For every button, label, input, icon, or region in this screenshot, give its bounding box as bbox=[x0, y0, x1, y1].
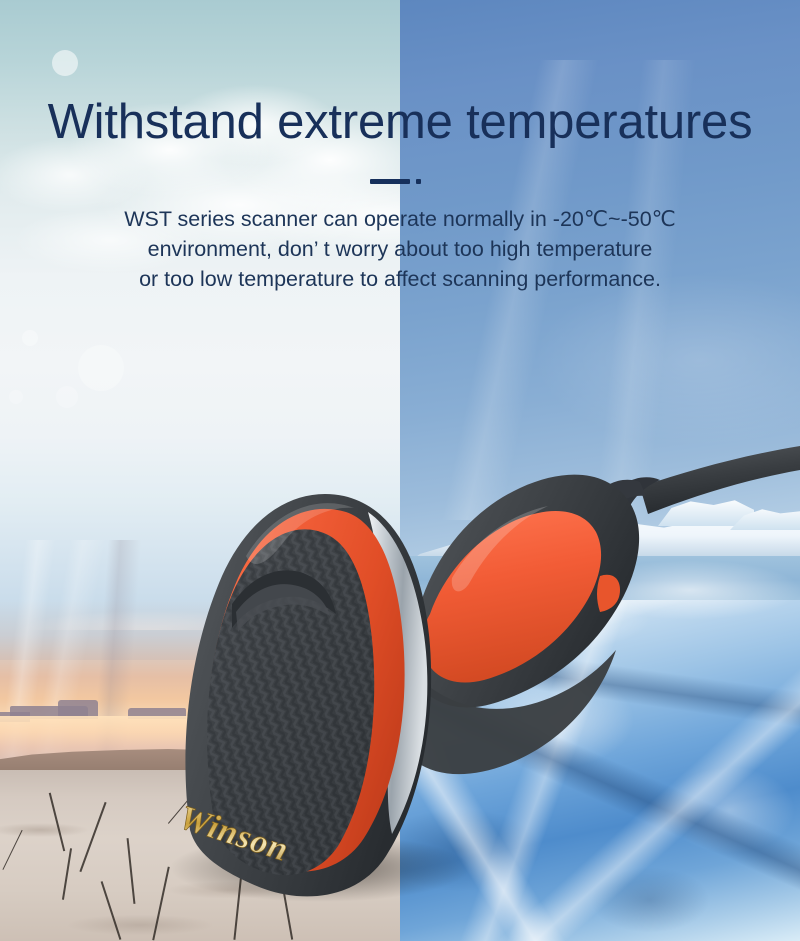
description-line-2: environment, don’ t worry about too high… bbox=[0, 234, 800, 264]
description-line-1: WST series scanner can operate normally … bbox=[0, 204, 800, 234]
divider-dot bbox=[416, 179, 421, 184]
description-line-3: or too low temperature to affect scannin… bbox=[0, 264, 800, 294]
banner-text-block: Withstand extreme temperatures WST serie… bbox=[0, 0, 800, 430]
frost-mist bbox=[400, 560, 800, 780]
banner-description: WST series scanner can operate normally … bbox=[0, 204, 800, 294]
page-title: Withstand extreme temperatures bbox=[0, 96, 800, 149]
product-feature-banner: Winson Withstand extreme temperatures WS… bbox=[0, 0, 800, 941]
ground-texture bbox=[0, 770, 400, 941]
divider-bar bbox=[370, 179, 410, 184]
title-divider bbox=[0, 176, 800, 188]
